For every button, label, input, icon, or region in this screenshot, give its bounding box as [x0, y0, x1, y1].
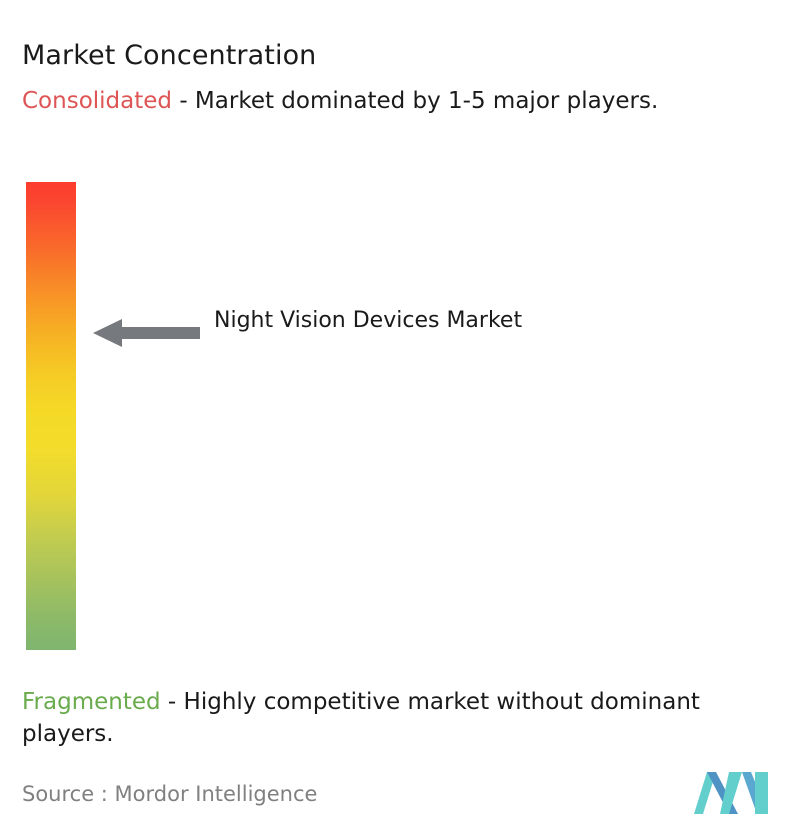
arrow-left-icon	[92, 318, 200, 348]
pointer-label: Night Vision Devices Market	[214, 304, 554, 338]
source-note: Source : Mordor Intelligence	[22, 780, 317, 808]
logo-stroke-5	[755, 772, 768, 814]
arrow-left-shape	[93, 319, 200, 347]
concentration-gradient-bar	[26, 182, 76, 650]
legend-fragmented-keyword: Fragmented	[22, 689, 161, 715]
legend-consolidated: Consolidated - Market dominated by 1-5 m…	[22, 85, 778, 117]
legend-fragmented: Fragmented - Highly competitive market w…	[22, 686, 782, 750]
legend-consolidated-keyword: Consolidated	[22, 88, 172, 114]
legend-consolidated-description: - Market dominated by 1-5 major players.	[172, 88, 658, 114]
page-title: Market Concentration	[22, 39, 316, 73]
mordor-intelligence-logo	[694, 768, 768, 818]
